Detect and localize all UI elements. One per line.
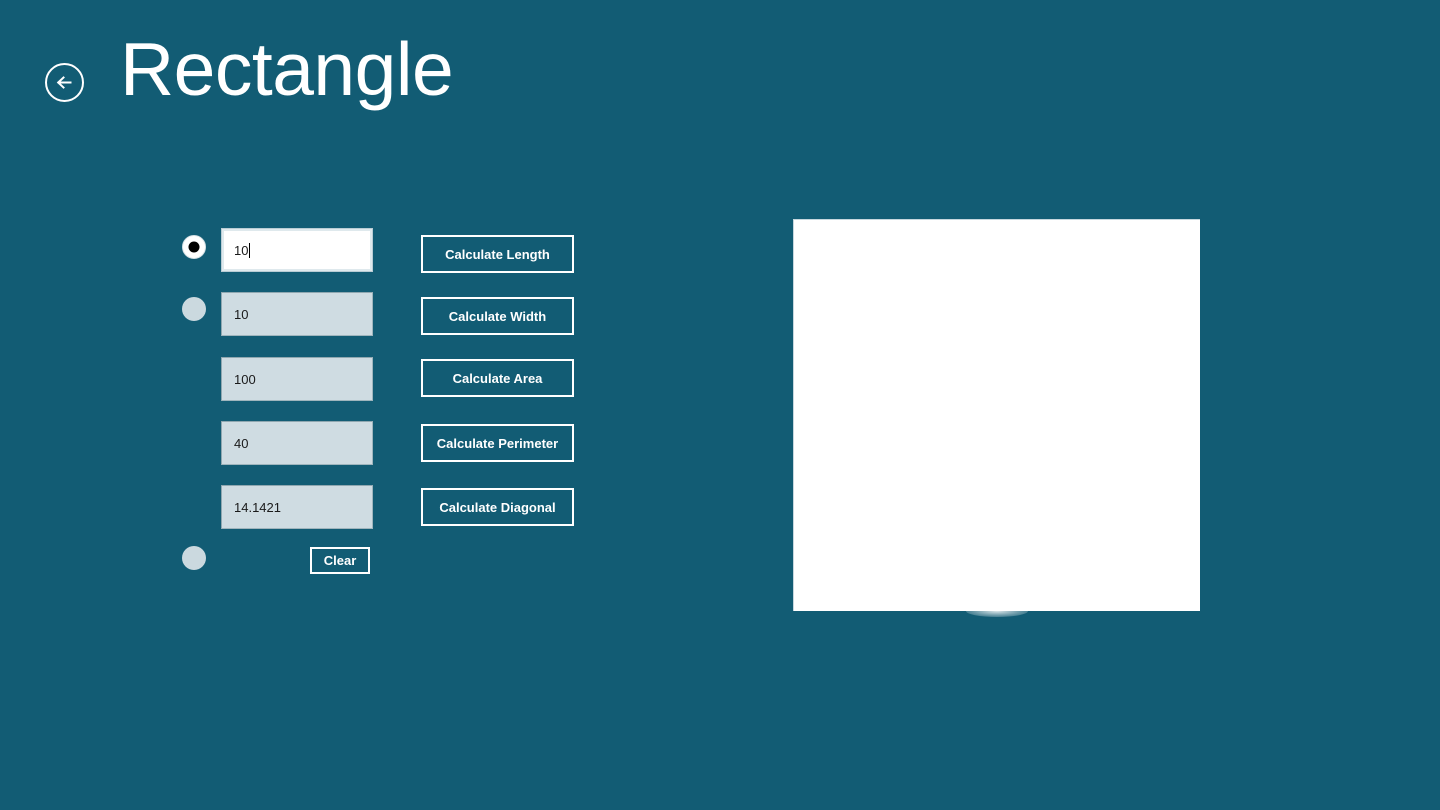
length-input[interactable]: 10 <box>221 228 373 272</box>
radio-length[interactable] <box>182 235 206 259</box>
diagonal-output[interactable]: 14.1421 <box>221 485 373 529</box>
width-input[interactable]: 10 <box>221 292 373 336</box>
calculate-diagonal-button[interactable]: Calculate Diagonal <box>421 488 574 526</box>
calculate-width-button[interactable]: Calculate Width <box>421 297 574 335</box>
text-caret <box>249 243 250 258</box>
radio-width[interactable] <box>182 297 206 321</box>
perimeter-output[interactable]: 40 <box>221 421 373 465</box>
calculate-perimeter-button[interactable]: Calculate Perimeter <box>421 424 574 462</box>
rectangle-shape <box>793 219 1200 611</box>
shape-preview <box>793 219 1200 611</box>
calculate-length-button[interactable]: Calculate Length <box>421 235 574 273</box>
area-output[interactable]: 100 <box>221 357 373 401</box>
radio-clear[interactable] <box>182 546 206 570</box>
shape-shadow <box>966 605 1028 617</box>
calculator-form: 10 Calculate Length 10 Calculate Width 1… <box>0 0 700 810</box>
calculate-area-button[interactable]: Calculate Area <box>421 359 574 397</box>
clear-button[interactable]: Clear <box>310 547 370 574</box>
